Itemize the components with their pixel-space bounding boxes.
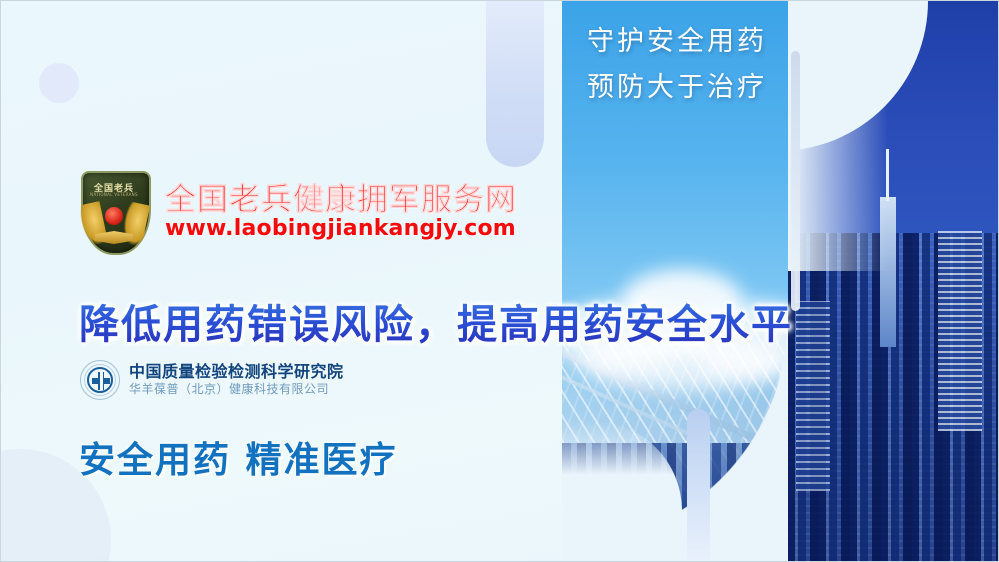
brand-text-block: 全国老兵健康拥军服务网 www.laobingjiankangjy.com — [165, 184, 517, 243]
brand-row: 全国老兵 NATIONAL VETERANS 全国老兵健康拥军服务网 www.l… — [75, 169, 517, 257]
decor-pill-left — [486, 0, 544, 167]
emblem-medal-center — [105, 207, 123, 225]
emblem-sub-text: NATIONAL VETERANS — [87, 192, 141, 197]
blue-city-skyline-photo — [788, 1, 999, 562]
cross-center-gap — [100, 372, 103, 390]
page-title: 降低用药错误风险，提高用药安全水平 — [79, 292, 793, 350]
top-slogan-line-2: 预防大于治疗 — [564, 65, 790, 111]
veteran-shield-emblem-icon: 全国老兵 NATIONAL VETERANS — [75, 169, 153, 257]
decor-circle-small — [39, 63, 79, 103]
medical-cross-seal-icon — [80, 360, 120, 400]
city-photo-edge-mask — [788, 1, 888, 271]
institute-row: 中国质量检验检测科学研究院 华羊葆普（北京）健康科技有限公司 — [80, 360, 344, 400]
city-tall-building — [938, 231, 982, 431]
city-tall-building — [796, 301, 830, 491]
brand-url[interactable]: www.laobingjiankangjy.com — [165, 216, 517, 242]
institute-subtitle: 华羊葆普（北京）健康科技有限公司 — [129, 382, 344, 398]
poster-slide: 守护安全用药 预防大于治疗 全国老兵 NATIONAL VETERANS 全国老… — [0, 0, 999, 562]
institute-name: 中国质量检验检测科学研究院 — [129, 362, 344, 382]
top-slogan: 守护安全用药 预防大于治疗 — [564, 19, 790, 112]
institute-text-block: 中国质量检验检测科学研究院 华羊葆普（北京）健康科技有限公司 — [129, 362, 344, 398]
brand-name: 全国老兵健康拥军服务网 — [165, 184, 517, 217]
top-slogan-line-1: 守护安全用药 — [564, 19, 790, 65]
bottom-slogan: 安全用药 精准医疗 — [79, 431, 398, 483]
